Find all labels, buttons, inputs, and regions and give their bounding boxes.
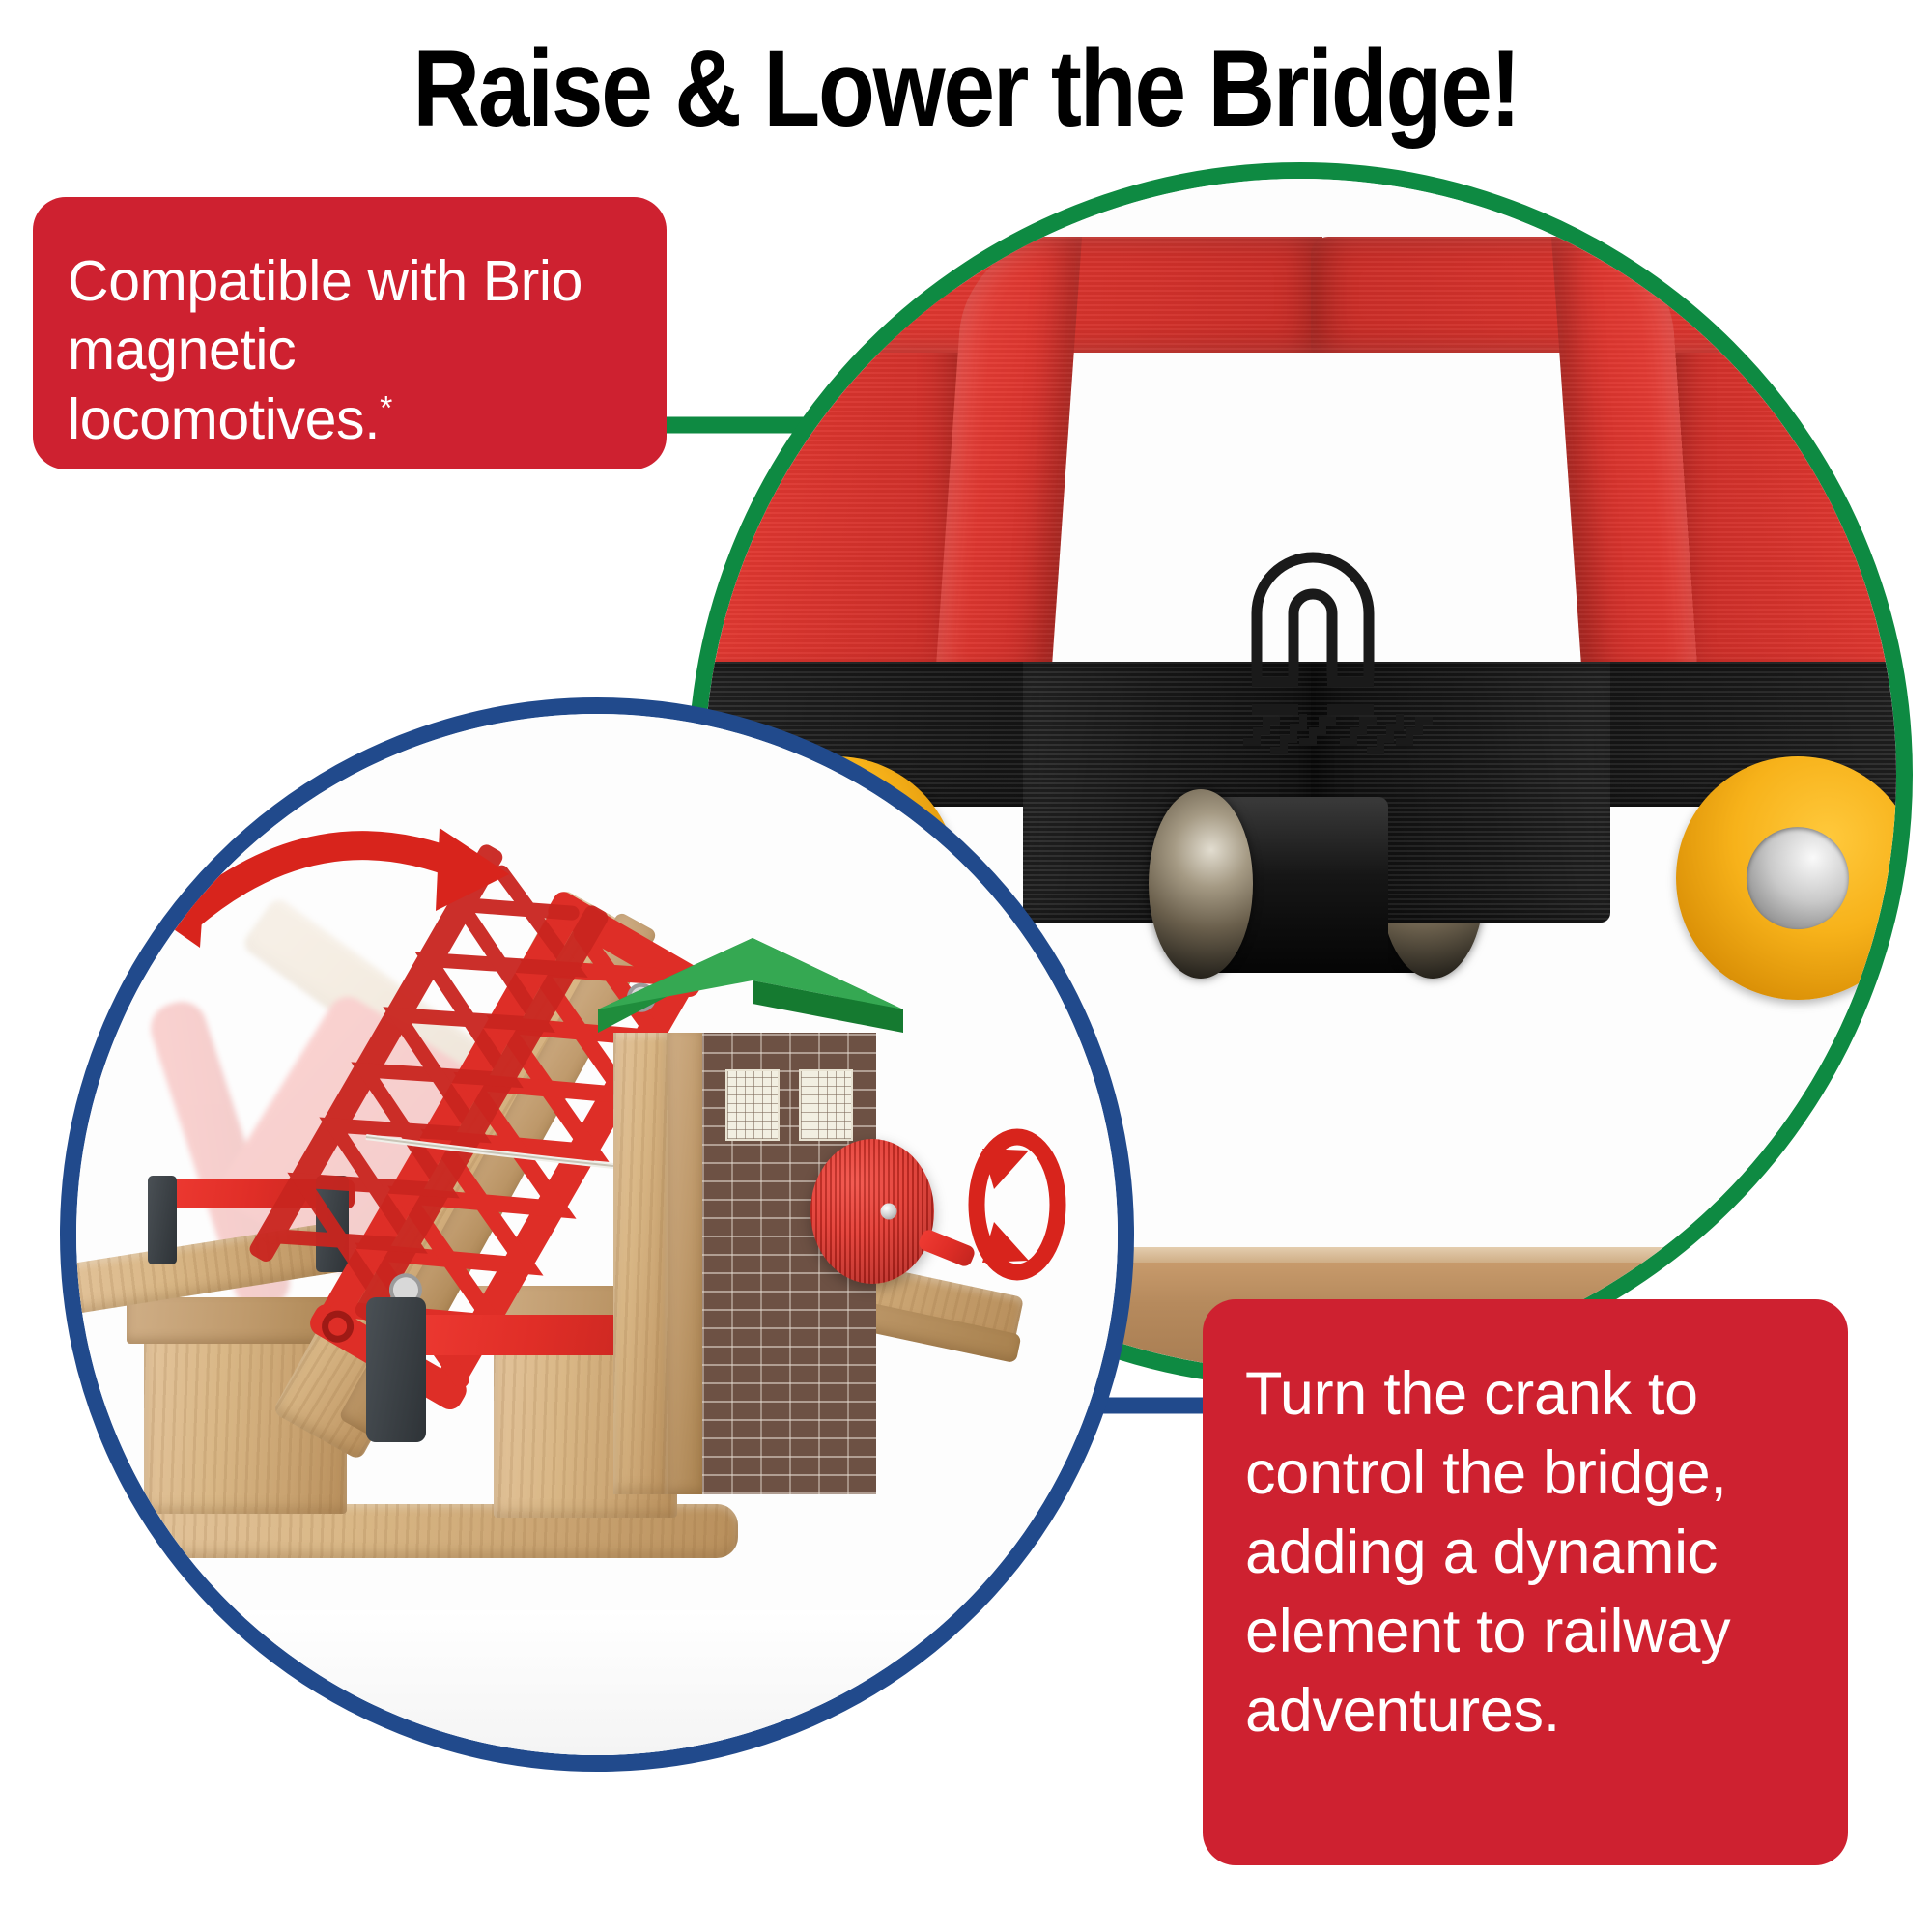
circular-rotation-icon [76,714,1134,1772]
footnote-marker: * [380,389,392,426]
page-title: Raise & Lower the Bridge! [135,33,1797,145]
magnet-icon [1232,557,1444,751]
callout-crank: Turn the crank to control the bridge, ad… [1203,1299,1848,1865]
wagon-right-wheel [1676,756,1913,1000]
lift-bridge-scene [76,714,1118,1755]
callout-crank-text: Turn the crank to control the bridge, ad… [1245,1355,1815,1750]
photo-lift-bridge [60,697,1134,1772]
infographic-canvas: Raise & Lower the Bridge! [0,0,1932,1932]
callout-compatibility-text: Compatible with Brio magnetic locomotive… [68,247,628,454]
callout-compatibility-footnote: *Trains and set sold seperately. [68,477,628,505]
callout-compatibility-label: Compatible with Brio magnetic locomotive… [68,249,582,451]
callout-compatibility: Compatible with Brio magnetic locomotive… [33,197,667,469]
wagon-right-magnet [1149,789,1253,979]
